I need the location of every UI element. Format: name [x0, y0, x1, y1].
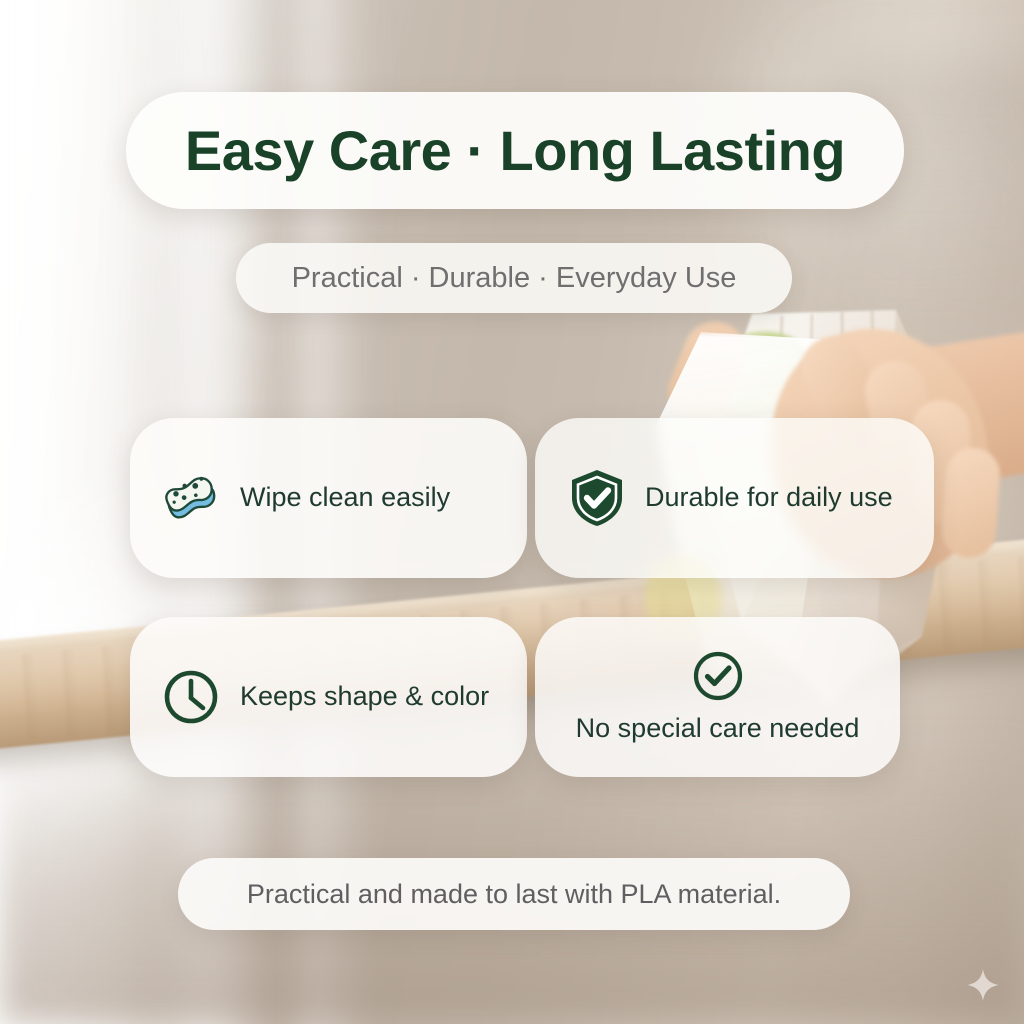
subtitle-pill: Practical · Durable · Everyday Use [236, 243, 792, 313]
footer-pill: Practical and made to last with PLA mate… [178, 858, 850, 930]
infographic-canvas: Easy Care · Long Lasting Practical · Dur… [0, 0, 1024, 1024]
feature-label: No special care needed [576, 713, 860, 744]
page-subtitle: Practical · Durable · Everyday Use [292, 262, 737, 295]
clock-icon [162, 668, 220, 726]
sponge-icon [162, 469, 220, 527]
page-title: Easy Care · Long Lasting [185, 118, 845, 183]
feature-label: Keeps shape & color [240, 681, 489, 712]
feature-label: Wipe clean easily [240, 482, 450, 513]
feature-label: Durable for daily use [645, 482, 893, 513]
feature-card-keeps-shape[interactable]: Keeps shape & color [130, 617, 527, 777]
footer-caption: Practical and made to last with PLA mate… [247, 879, 781, 910]
sparkle-icon [966, 968, 1000, 1002]
shield-check-icon [569, 468, 625, 528]
feature-card-no-special-care[interactable]: No special care needed [535, 617, 900, 777]
check-circle-icon [691, 649, 745, 703]
feature-card-durable[interactable]: Durable for daily use [535, 418, 934, 578]
title-pill: Easy Care · Long Lasting [126, 92, 904, 209]
finger-4 [940, 446, 1002, 559]
feature-card-wipe-clean[interactable]: Wipe clean easily [130, 418, 527, 578]
